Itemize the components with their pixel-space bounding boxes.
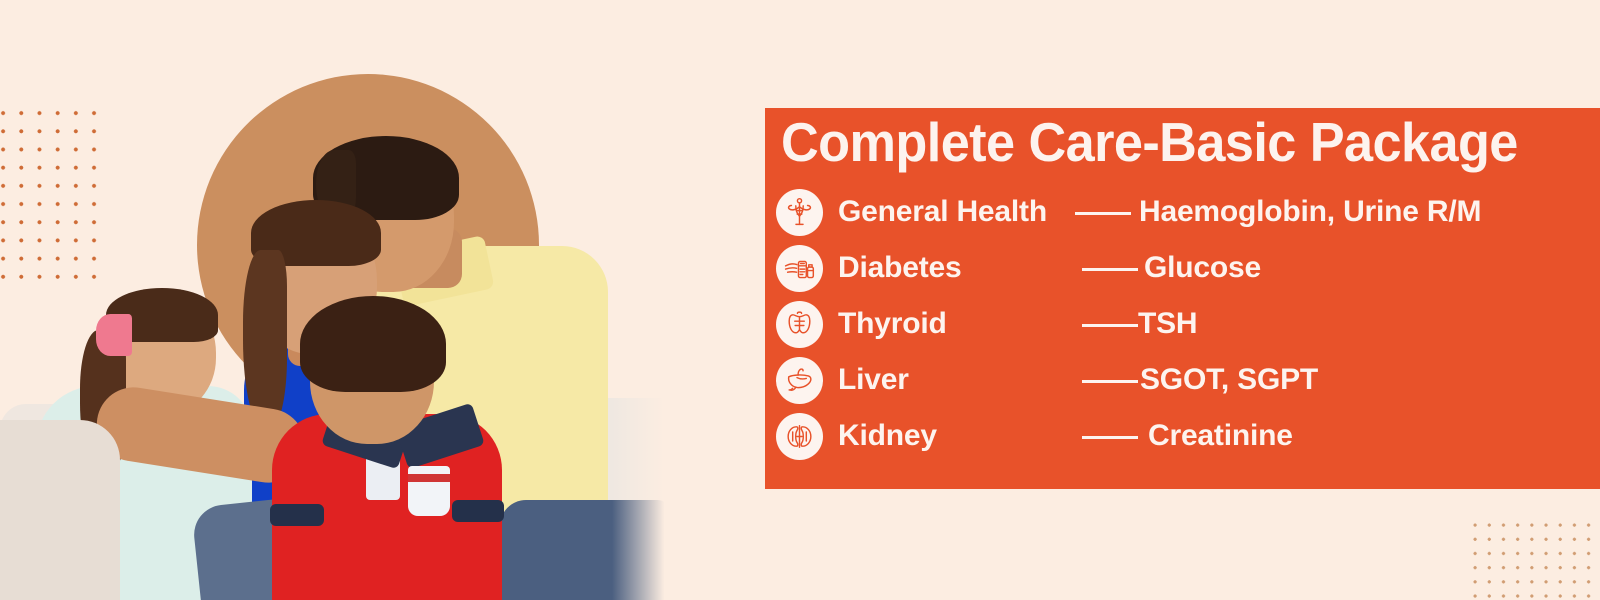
photo-edge-fade xyxy=(612,0,664,600)
package-test-list: General Health Haemoglobin, Urine R/M xyxy=(776,186,1600,466)
package-title: Complete Care-Basic Package xyxy=(781,110,1518,174)
boy-sleeve-right xyxy=(452,500,504,522)
glucometer-icon xyxy=(776,245,823,292)
test-names-value: Haemoglobin, Urine R/M xyxy=(1139,186,1481,238)
kidney-icon xyxy=(776,413,823,460)
list-item[interactable]: Kidney Creatinine xyxy=(776,410,1600,466)
dot-pattern-bottom-right xyxy=(1468,518,1600,600)
test-names-value: Glucose xyxy=(1144,242,1261,294)
test-category-label: General Health xyxy=(838,186,1047,238)
test-names-value: Creatinine xyxy=(1148,410,1293,462)
list-item[interactable]: Liver SGOT, SGPT xyxy=(776,354,1600,410)
list-item[interactable]: Diabetes Glucose xyxy=(776,242,1600,298)
mother-hair-left xyxy=(243,250,287,430)
banner-canvas: Complete Care-Basic Package General Heal xyxy=(0,0,1600,600)
test-names-value: TSH xyxy=(1138,298,1197,350)
row-separator-dash xyxy=(1082,380,1138,383)
row-separator-dash xyxy=(1082,268,1138,271)
row-separator-dash xyxy=(1082,324,1138,327)
thyroid-icon xyxy=(776,301,823,348)
boy-sleeve-left xyxy=(270,504,324,526)
package-panel: Complete Care-Basic Package General Heal xyxy=(765,108,1600,489)
list-item[interactable]: Thyroid TSH xyxy=(776,298,1600,354)
test-names-value: SGOT, SGPT xyxy=(1140,354,1318,406)
row-separator-dash xyxy=(1075,212,1131,215)
liver-icon xyxy=(776,357,823,404)
family-photo xyxy=(0,0,664,600)
boy-shirt-badge-stripe xyxy=(408,474,450,482)
row-separator-dash xyxy=(1082,436,1138,439)
caduceus-icon xyxy=(776,189,823,236)
list-item[interactable]: General Health Haemoglobin, Urine R/M xyxy=(776,186,1600,242)
test-category-label: Thyroid xyxy=(838,298,947,350)
test-category-label: Liver xyxy=(838,354,909,406)
boy-hair xyxy=(300,296,446,392)
test-category-label: Diabetes xyxy=(838,242,961,294)
sofa-arm-left xyxy=(0,420,120,600)
test-category-label: Kidney xyxy=(838,410,937,462)
girl-headband xyxy=(96,314,132,356)
